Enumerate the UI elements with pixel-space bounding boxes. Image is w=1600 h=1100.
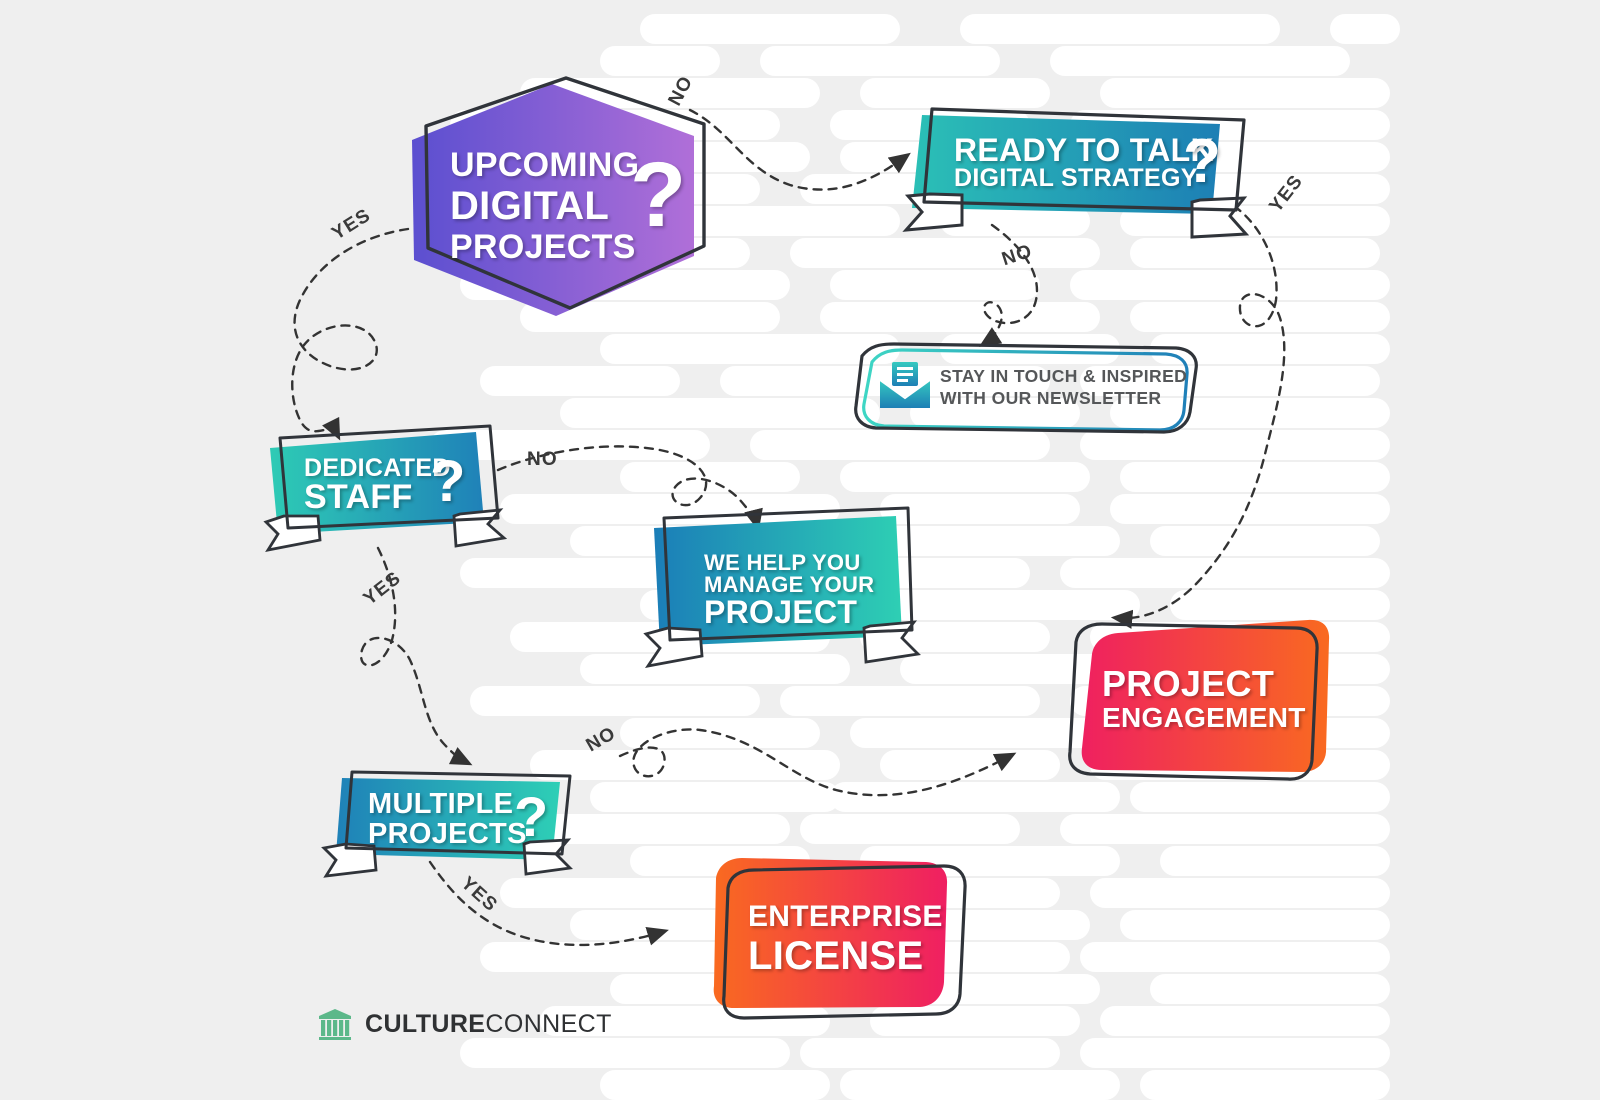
background-bar	[1160, 846, 1390, 876]
newsletter-line1: STAY IN TOUCH & INSPIRED	[940, 366, 1187, 388]
background-bar	[1140, 1070, 1390, 1100]
background-bar	[1120, 462, 1390, 492]
background-bar	[830, 270, 1040, 300]
ribbon-tail-left	[906, 194, 962, 230]
background-bar	[600, 1070, 830, 1100]
background-bar	[860, 78, 1050, 108]
background-bar	[1080, 1038, 1390, 1068]
node-stay-in-touch-newsletter[interactable]: STAY IN TOUCH & INSPIRED WITH OUR NEWSLE…	[840, 336, 1200, 446]
background-bar	[820, 302, 1100, 332]
node-label-line1: MULTIPLE	[368, 790, 513, 820]
node-question-mark: ?	[514, 792, 549, 842]
background-bar	[640, 14, 900, 44]
node-manage-project[interactable]: WE HELP YOU MANAGE YOUR PROJECT	[640, 508, 930, 678]
node-question-mark: ?	[1183, 134, 1221, 190]
edge-staff-no: NO	[527, 449, 558, 471]
background-bar	[470, 686, 760, 716]
node-dedicated-staff[interactable]: DEDICATED STAFF ?	[264, 424, 514, 564]
node-label-line1: READY TO TALK	[954, 134, 1214, 167]
background-bar	[1150, 974, 1390, 1004]
brand-logo[interactable]: CULTURECONNECT	[318, 1008, 612, 1040]
ribbon-tail-left	[266, 516, 320, 550]
background-bar	[880, 750, 1060, 780]
background-bar	[1150, 526, 1380, 556]
background-bar	[800, 1038, 1060, 1068]
background-bar	[560, 398, 880, 428]
background-bar	[620, 462, 800, 492]
background-bar	[760, 46, 1000, 76]
background-bar	[600, 46, 720, 76]
node-label-line2: LICENSE	[748, 936, 923, 977]
background-bar	[460, 1038, 790, 1068]
node-label-line2: STAFF	[304, 480, 413, 515]
node-label-line1: UPCOMING	[450, 148, 639, 183]
node-project-engagement[interactable]: PROJECT ENGAGEMENT	[1058, 606, 1338, 786]
node-label-line1: PROJECT	[1102, 666, 1274, 703]
node-label-line3: PROJECT	[704, 596, 857, 629]
newsletter-text-block: STAY IN TOUCH & INSPIRED WITH OUR NEWSLE…	[940, 366, 1187, 410]
background-bar	[1100, 78, 1390, 108]
background-bar	[1060, 558, 1390, 588]
background-bar	[780, 686, 1040, 716]
brand-name-bold: CULTURE	[365, 1010, 485, 1038]
background-bar	[1130, 782, 1390, 812]
background-bar	[1110, 494, 1390, 524]
node-ready-to-talk[interactable]: READY TO TALK DIGITAL STRATEGY ?	[900, 108, 1250, 248]
background-bar	[830, 782, 1120, 812]
background-bar	[1330, 14, 1400, 44]
background-bar	[590, 782, 840, 812]
ribbon-tail-left	[646, 628, 702, 666]
node-label-line2: PROJECTS	[368, 820, 527, 850]
background-bar	[1100, 1006, 1390, 1036]
node-question-mark: ?	[430, 456, 466, 508]
background-bar	[620, 718, 820, 748]
background-bar	[1120, 910, 1390, 940]
node-enterprise-license[interactable]: ENTERPRISE LICENSE	[694, 846, 974, 1026]
background-bar	[960, 14, 1280, 44]
background-bar	[840, 462, 1090, 492]
node-question-mark: ?	[630, 156, 687, 235]
infographic-canvas: UPCOMING DIGITAL PROJECTS ? READY TO TAL…	[0, 0, 1600, 1100]
brand-name-light: CONNECT	[485, 1010, 611, 1038]
node-label-line2: DIGITAL	[450, 186, 609, 227]
background-bar	[1070, 270, 1390, 300]
newsletter-line2: WITH OUR NEWSLETTER	[940, 388, 1187, 410]
background-bar	[1060, 814, 1390, 844]
envelope-icon	[880, 362, 930, 408]
ribbon-tail-right	[864, 622, 918, 662]
node-label-line3: PROJECTS	[450, 230, 636, 265]
node-upcoming-digital-projects[interactable]: UPCOMING DIGITAL PROJECTS ?	[404, 78, 714, 318]
background-bar	[840, 1070, 1120, 1100]
background-bar	[1090, 878, 1390, 908]
node-label-line2: ENGAGEMENT	[1102, 704, 1306, 733]
background-bar	[480, 366, 680, 396]
background-bar	[1080, 942, 1390, 972]
node-multiple-projects[interactable]: MULTIPLE PROJECTS ?	[318, 768, 578, 888]
node-label-line2: DIGITAL STRATEGY	[954, 166, 1198, 192]
museum-building-icon	[318, 1008, 352, 1040]
background-bar	[800, 814, 1020, 844]
node-label-line1: ENTERPRISE	[748, 902, 943, 933]
quad-fill	[714, 858, 947, 1008]
brand-name: CULTURECONNECT	[365, 1010, 612, 1039]
background-bar	[1050, 46, 1350, 76]
background-bar	[1130, 302, 1390, 332]
